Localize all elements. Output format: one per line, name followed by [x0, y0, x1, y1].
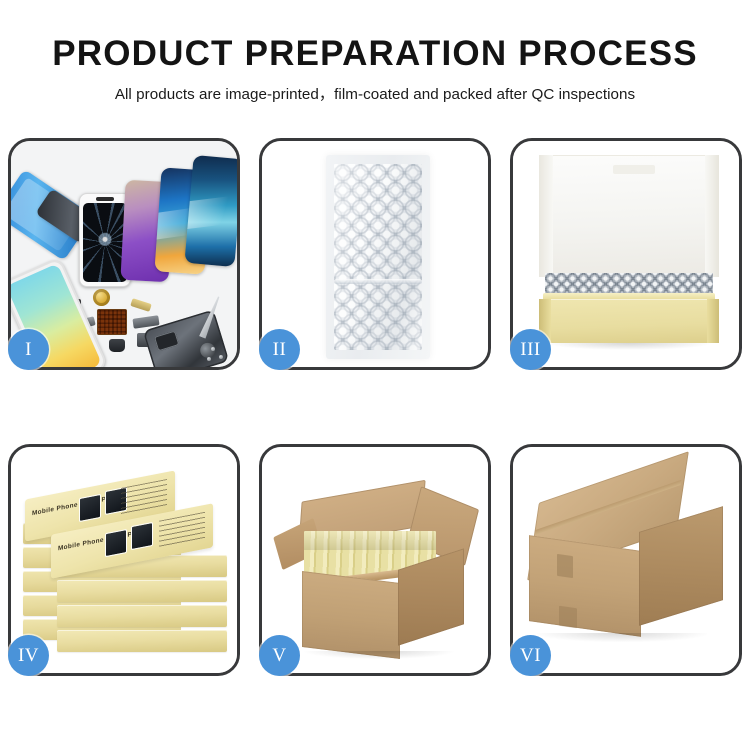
carton-front-panel — [302, 571, 400, 659]
box-shadow — [547, 343, 711, 350]
step-card-2: II — [259, 138, 491, 370]
step-2-image — [262, 141, 488, 367]
phone-notch-icon — [96, 197, 114, 201]
stack-layer — [57, 605, 227, 627]
flex-cable-icon — [130, 298, 151, 312]
screw-icon — [207, 357, 211, 361]
tape-mark — [559, 606, 577, 629]
box-window-image — [105, 529, 127, 557]
box-lid-open-icon — [539, 155, 719, 277]
vibration-motor-icon — [109, 339, 125, 352]
process-steps-grid: I II III — [8, 138, 742, 676]
box-window-image — [131, 522, 153, 550]
box-window-image — [79, 494, 101, 522]
step-badge-3: III — [510, 329, 551, 370]
step-badge-6: VI — [510, 635, 551, 676]
screw-icon — [211, 347, 215, 351]
step-badge-1: I — [8, 329, 49, 370]
step-6-image — [513, 447, 739, 673]
gold-coil-icon — [93, 289, 110, 306]
step-badge-5: V — [259, 635, 300, 676]
product-preparation-infographic: PRODUCT PREPARATION PROCESS All products… — [0, 0, 750, 750]
carton-shadow — [304, 651, 454, 659]
stack-layer — [57, 630, 227, 652]
header: PRODUCT PREPARATION PROCESS All products… — [0, 0, 750, 104]
box-spec-lines — [121, 479, 167, 516]
open-carton-icon — [262, 447, 488, 673]
step-badge-2: II — [259, 329, 300, 370]
copper-grid-component-icon — [97, 309, 127, 335]
page-subtitle: All products are image-printed，film-coat… — [0, 73, 750, 104]
step-card-3: III — [510, 138, 742, 370]
phone-parts-scene — [11, 141, 237, 367]
stack-layer — [57, 580, 227, 602]
bubble-wrap-seam — [334, 279, 422, 284]
sealed-carton-icon — [513, 447, 739, 673]
kraft-box-front-icon — [539, 299, 719, 343]
step-card-1: I — [8, 138, 240, 370]
carton-front-panel — [529, 535, 641, 637]
step-card-6: VI — [510, 444, 742, 676]
bubble-wrap-pattern — [334, 164, 422, 350]
bubble-wrap-sleeve-icon — [326, 155, 430, 359]
carton-shadow — [537, 633, 707, 642]
step-card-5: V — [259, 444, 491, 676]
step-5-image — [262, 447, 488, 673]
step-3-image — [513, 141, 739, 367]
screw-icon — [219, 355, 223, 359]
tape-mark — [557, 554, 573, 578]
step-4-image: Mobile Phone Spare Parts Mobile Phone Sp… — [11, 447, 237, 673]
blue-swirl-display-icon — [184, 155, 237, 267]
retail-box-stack-icon: Mobile Phone Spare Parts Mobile Phone Sp… — [11, 447, 237, 673]
lid-tab — [613, 165, 655, 174]
step-badge-4: IV — [8, 635, 49, 676]
box-spec-lines — [159, 512, 205, 549]
step-1-image — [11, 141, 237, 367]
step-card-4: Mobile Phone Spare Parts Mobile Phone Sp… — [8, 444, 240, 676]
page-title: PRODUCT PREPARATION PROCESS — [0, 0, 750, 73]
